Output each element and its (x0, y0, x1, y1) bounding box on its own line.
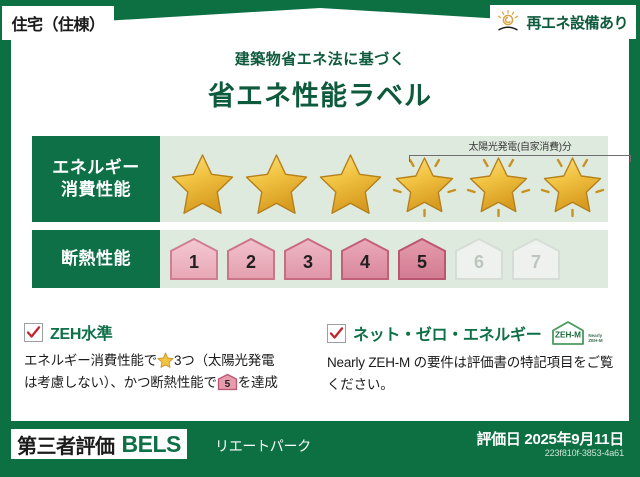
insulation-performance-label: 断熱性能 (32, 230, 160, 288)
zeh-m-logo-icon: ZEH-M Nearly ZEH-M (550, 320, 602, 346)
builder-name: リエートパーク (215, 436, 311, 456)
bels-badge: 第三者評価 BELS (11, 429, 187, 459)
title-subtitle: 建築物省エネ法に基づく (0, 48, 640, 69)
checkbox-checked-icon (24, 323, 43, 342)
building-type-text: 住宅（住棟） (11, 11, 104, 35)
zeh-body-part3: を達成 (238, 375, 278, 390)
insulation-performance-row: 断熱性能 1 2 3 (32, 230, 608, 288)
zeh-body-part2: は考慮しない）、かつ断熱性能で (24, 375, 217, 390)
energy-stars-area: 太陽光発電(自家消費)分 (160, 136, 609, 222)
evaluation-date: 評価日 2025年9月11日 (476, 428, 624, 449)
net-zero-energy-header: ネット・ゼロ・エネルギー ZEH-M Nearly ZEH-M (327, 320, 618, 346)
insulation-level-4: 4 (338, 236, 392, 282)
zeh-body-stars: 3つ（太陽光発電 (174, 353, 274, 368)
insulation-level-6: 6 (452, 236, 506, 282)
renewable-badge-label: 再エネ設備あり (526, 12, 628, 33)
insulation-level-5: 5 (395, 236, 449, 282)
star-icon (314, 150, 387, 218)
zeh-body-part1: エネルギー消費性能で (24, 353, 157, 368)
house-icon-number: 5 (217, 377, 238, 393)
net-zero-energy-body: Nearly ZEH-M の要件は評価書の特記項目をご覧ください。 (327, 352, 618, 396)
zeh-m-logo-subtext: Nearly ZEH-M (588, 333, 602, 346)
evaluation-id: 223f810f-3853-4a61 (545, 448, 624, 458)
zeh-standard-header: ZEH水準 (24, 320, 307, 344)
insulation-level-list: 1 2 3 4 5 (167, 236, 563, 282)
solar-note-text: 太陽光発電(自家消費)分 (409, 138, 631, 153)
insulation-level-7: 7 (509, 236, 563, 282)
label-title-block: 建築物省エネ法に基づく 省エネ性能ラベル (0, 48, 640, 113)
bels-japanese-label: 第三者評価 (17, 430, 115, 459)
checkbox-checked-icon (327, 324, 346, 343)
info-sections: ZEH水準 エネルギー消費性能で3つ（太陽光発電 は考慮しない）、かつ断熱性能で… (24, 320, 618, 396)
star-icon-inline (157, 352, 174, 368)
bels-logo-text: BELS (122, 431, 181, 458)
zeh-standard-body: エネルギー消費性能で3つ（太陽光発電 は考慮しない）、かつ断熱性能で5を達成 (24, 350, 307, 394)
sun-icon (495, 9, 521, 35)
label-footer: 第三者評価 BELS リエートパーク 評価日 2025年9月11日 223f81… (0, 423, 640, 477)
insulation-levels-area: 1 2 3 4 5 (160, 230, 608, 288)
building-type-tag: 住宅（住棟） (2, 6, 114, 40)
insulation-level-2: 2 (224, 236, 278, 282)
svg-text:ZEH-M: ZEH-M (555, 331, 581, 340)
energy-label-line2: 消費性能 (61, 179, 131, 201)
solar-note-bracket (409, 155, 631, 162)
energy-label-line1: エネルギー (52, 157, 140, 179)
energy-performance-label: エネルギー 消費性能 (32, 136, 160, 222)
net-zero-energy-section: ネット・ゼロ・エネルギー ZEH-M Nearly ZEH-M Nearly Z… (321, 320, 618, 396)
solar-generation-note: 太陽光発電(自家消費)分 (409, 138, 631, 162)
zeh-standard-section: ZEH水準 エネルギー消費性能で3つ（太陽光発電 は考慮しない）、かつ断熱性能で… (24, 320, 321, 396)
energy-performance-label: 住宅（住棟） 再エネ設備あり 建築物省エネ法に基づく 省エネ性能ラベル (0, 0, 640, 477)
zeh-m-sub-line2: ZEH-M (588, 338, 602, 343)
rating-rows: エネルギー 消費性能 太陽光発電(自家消費)分 (32, 136, 608, 296)
insulation-label-text: 断熱性能 (61, 248, 131, 270)
zeh-standard-title: ZEH水準 (50, 320, 113, 344)
star-icon (240, 150, 313, 218)
insulation-level-1: 1 (167, 236, 221, 282)
house-icon-inline: 5 (217, 373, 238, 391)
star-icon (166, 150, 239, 218)
net-zero-energy-title: ネット・ゼロ・エネルギー (353, 321, 541, 345)
energy-performance-row: エネルギー 消費性能 太陽光発電(自家消費)分 (32, 136, 608, 222)
insulation-level-3: 3 (281, 236, 335, 282)
page-title: 省エネ性能ラベル (0, 74, 640, 113)
renewable-equipment-badge: 再エネ設備あり (490, 5, 636, 39)
